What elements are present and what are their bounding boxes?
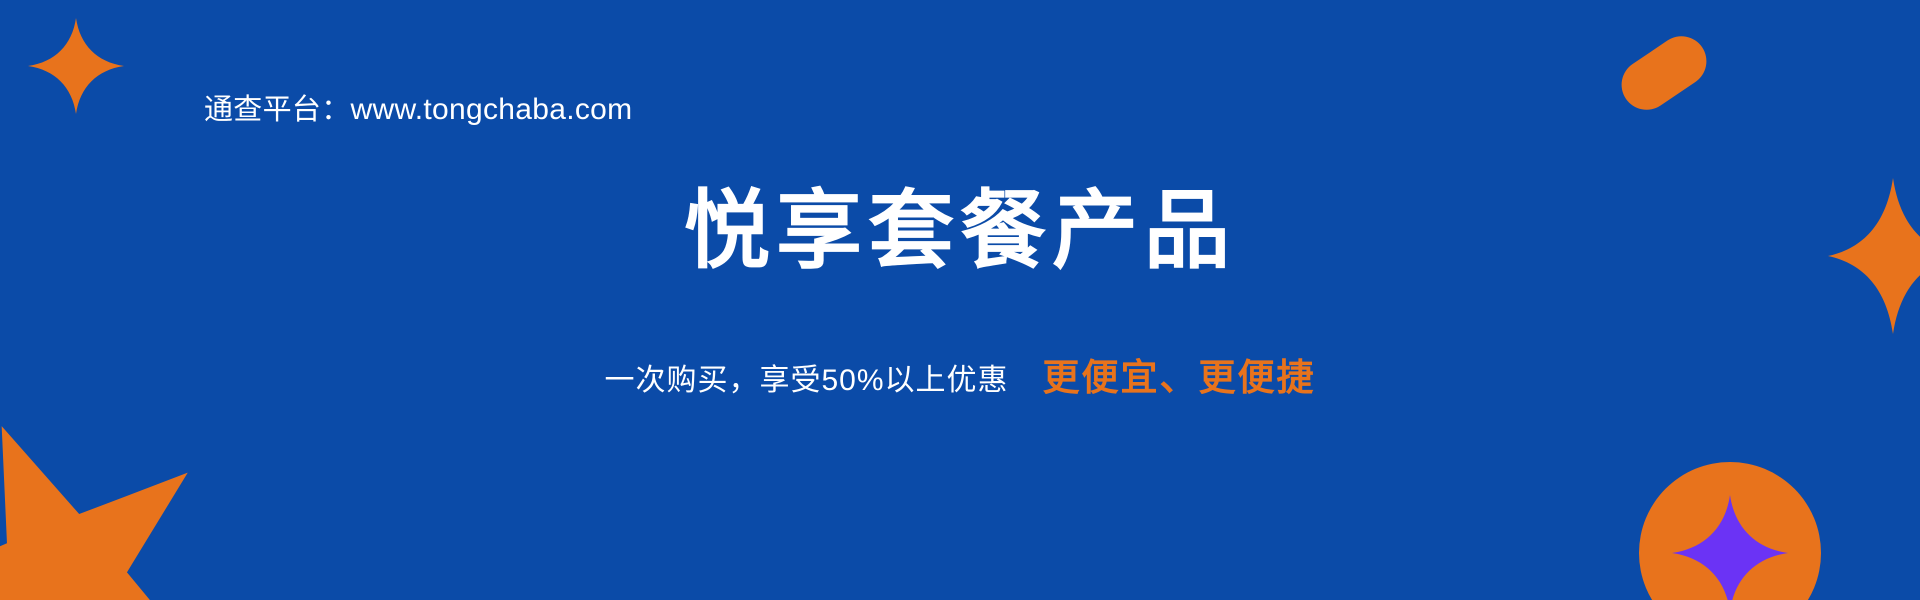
subtitle: 一次购买，享受50%以上优惠更便宜、更便捷 (0, 358, 1920, 399)
subtitle-accent-text: 更便宜、更便捷 (1043, 357, 1316, 398)
five-point-star-icon (0, 408, 226, 600)
page-title: 悦享套餐产品 (0, 186, 1920, 276)
circle-shape-icon (1639, 462, 1821, 600)
four-point-sparkle-icon (1672, 495, 1788, 600)
promo-banner: 通查平台：www.tongchaba.com 悦享套餐产品 一次购买，享受50%… (0, 0, 1920, 600)
capsule-shape-icon (1612, 27, 1716, 120)
four-point-sparkle-icon (28, 18, 124, 114)
platform-line: 通查平台：www.tongchaba.com (204, 86, 632, 128)
platform-url: www.tongchaba.com (351, 93, 633, 126)
subtitle-plain-text: 一次购买，享受50%以上优惠 (604, 364, 1008, 397)
platform-label: 通查平台： (204, 94, 351, 126)
